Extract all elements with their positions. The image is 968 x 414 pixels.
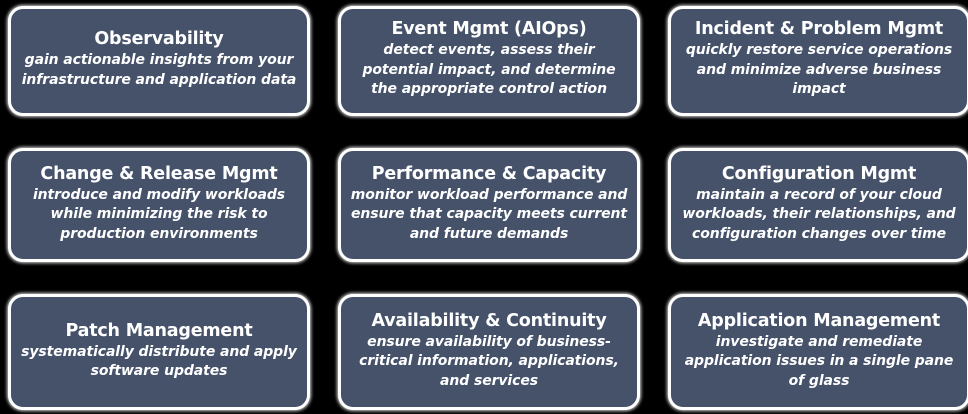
- capability-card-event-mgmt[interactable]: Event Mgmt (AIOps) detect events, assess…: [338, 6, 640, 116]
- card-title: Patch Management: [20, 321, 298, 342]
- card-content: Availability & Continuity ensure availab…: [350, 311, 628, 392]
- capability-card-change-release-mgmt[interactable]: Change & Release Mgmt introduce and modi…: [8, 148, 310, 262]
- card-description: investigate and remediate application is…: [680, 333, 958, 392]
- card-title: Availability & Continuity: [350, 311, 628, 332]
- card-content: Patch Management systematically distribu…: [20, 321, 298, 382]
- card-description: introduce and modify workloads while min…: [20, 186, 298, 245]
- card-title: Performance & Capacity: [350, 164, 628, 185]
- card-title: Application Management: [680, 311, 958, 332]
- card-title: Configuration Mgmt: [680, 164, 958, 185]
- card-content: Performance & Capacity monitor workload …: [350, 164, 628, 245]
- capability-card-availability-continuity[interactable]: Availability & Continuity ensure availab…: [338, 294, 640, 410]
- card-content: Observability gain actionable insights f…: [20, 29, 298, 90]
- card-description: gain actionable insights from your infra…: [20, 51, 298, 90]
- card-description: systematically distribute and apply soft…: [20, 343, 298, 382]
- card-description: ensure availability of business-critical…: [350, 333, 628, 392]
- capability-card-configuration-mgmt[interactable]: Configuration Mgmt maintain a record of …: [668, 148, 968, 262]
- card-title: Event Mgmt (AIOps): [350, 19, 628, 40]
- capability-card-application-management[interactable]: Application Management investigate and r…: [668, 294, 968, 410]
- card-content: Change & Release Mgmt introduce and modi…: [20, 164, 298, 245]
- capability-card-performance-capacity[interactable]: Performance & Capacity monitor workload …: [338, 148, 640, 262]
- capability-card-patch-management[interactable]: Patch Management systematically distribu…: [8, 294, 310, 410]
- card-title: Observability: [20, 29, 298, 50]
- card-description: quickly restore service operations and m…: [680, 41, 958, 100]
- card-description: maintain a record of your cloud workload…: [680, 186, 958, 245]
- card-title: Incident & Problem Mgmt: [680, 19, 958, 40]
- card-title: Change & Release Mgmt: [20, 164, 298, 185]
- card-description: detect events, assess their potential im…: [350, 41, 628, 100]
- card-content: Incident & Problem Mgmt quickly restore …: [680, 19, 958, 100]
- card-description: monitor workload performance and ensure …: [350, 186, 628, 245]
- capability-card-grid: Observability gain actionable insights f…: [0, 0, 968, 414]
- capability-card-observability[interactable]: Observability gain actionable insights f…: [8, 6, 310, 116]
- card-content: Configuration Mgmt maintain a record of …: [680, 164, 958, 245]
- capability-card-incident-problem-mgmt[interactable]: Incident & Problem Mgmt quickly restore …: [668, 6, 968, 116]
- card-content: Application Management investigate and r…: [680, 311, 958, 392]
- card-content: Event Mgmt (AIOps) detect events, assess…: [350, 19, 628, 100]
